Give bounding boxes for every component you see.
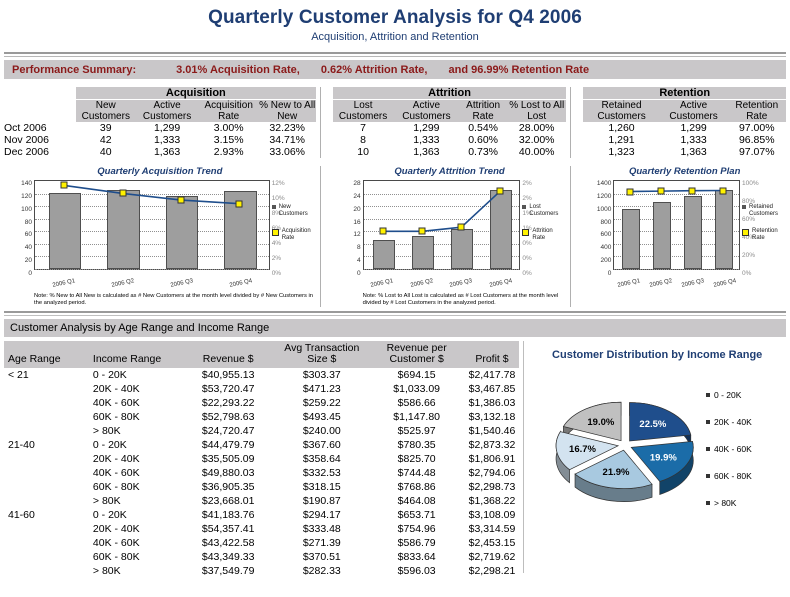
y-axis-tick-label: 0 xyxy=(4,270,32,277)
gridline xyxy=(364,269,520,270)
y2-axis-tick-label: 2% xyxy=(522,180,548,187)
x-axis-tick-label: 2006 Q2 xyxy=(649,278,673,289)
y-axis-tick-label: 140 xyxy=(4,180,32,187)
attrition-table-block: Attrition Lost Customers Active Customer… xyxy=(333,87,567,158)
retention-plan-chart: Quarterly Retention Plan 020040060080010… xyxy=(583,166,786,307)
cell-value xyxy=(4,410,89,424)
col-retention-rate: Retention Rate xyxy=(728,100,786,123)
y2-axis-tick-label: 100% xyxy=(742,180,768,187)
cell-value: 1,333 xyxy=(660,134,728,146)
page-subtitle: Acquisition, Attrition and Retention xyxy=(0,29,790,43)
cell-value: $2,719.62 xyxy=(465,550,520,564)
y-axis-tick-label: 16 xyxy=(333,219,361,226)
cell-value: 0 - 20K xyxy=(89,508,182,522)
y-axis-tick-label: 600 xyxy=(583,231,611,238)
cell-value: 60K - 80K xyxy=(89,410,182,424)
row-label-month: Dec 2006 xyxy=(4,146,76,158)
legend-marker-icon xyxy=(706,474,710,478)
cell-value: $52,798.63 xyxy=(181,410,274,424)
chart-plot-area: 02004006008001000120014000%20%40%60%80%1… xyxy=(583,178,786,290)
cell-value xyxy=(4,452,89,466)
cell-value: $282.33 xyxy=(275,564,369,578)
y-axis-tick-label: 80 xyxy=(4,219,32,226)
cell-value: $49,880.03 xyxy=(181,466,274,480)
col-retained-customers: Retained Customers xyxy=(583,100,659,123)
cell-value: $694.15 xyxy=(369,368,465,382)
data-point-marker xyxy=(61,182,68,189)
x-axis-tick-label: 2006 Q3 xyxy=(449,278,473,289)
cell-value: 1,291 xyxy=(583,134,659,146)
cell-value: 0.60% xyxy=(459,134,507,146)
y-axis-tick-label: 12 xyxy=(333,231,361,238)
legend-item: Retained Customers xyxy=(742,204,786,218)
vertical-divider xyxy=(570,87,571,158)
col-active-customers: Active Customers xyxy=(394,100,460,123)
y-axis-tick-label: 1200 xyxy=(583,193,611,200)
legend-swatch-bar-icon xyxy=(742,205,746,209)
table-row: 1,291 1,333 96.85% xyxy=(583,134,786,146)
table-row: 20K - 40K$35,505.09$358.64$825.70$1,806.… xyxy=(4,452,519,466)
cell-value: $2,453.15 xyxy=(465,536,520,550)
cell-value: $43,349.33 xyxy=(181,550,274,564)
cell-value: $35,505.09 xyxy=(181,452,274,466)
cell-value: 40K - 60K xyxy=(89,396,182,410)
cell-value: $2,298.21 xyxy=(465,564,520,578)
chart-title: Quarterly Retention Plan xyxy=(583,166,786,177)
cell-value: 32.23% xyxy=(259,122,316,134)
y-axis-tick-label: 800 xyxy=(583,219,611,226)
acquisition-note: Note: % New to All New is calculated as … xyxy=(4,293,316,307)
x-axis-tick-label: 2006 Q4 xyxy=(489,278,513,289)
acquisition-table: Acquisition New Customers Active Custome… xyxy=(4,87,316,158)
legend-marker-icon xyxy=(706,393,710,397)
cell-value: 40K - 60K xyxy=(89,536,182,550)
cell-value: $825.70 xyxy=(369,452,465,466)
cell-value: > 80K xyxy=(89,424,182,438)
header-divider xyxy=(4,52,786,57)
legend-label: 0 - 20K xyxy=(714,390,741,400)
cell-value: $596.03 xyxy=(369,564,465,578)
table-row: > 80K$23,668.01$190.87$464.08$1,368.22 xyxy=(4,494,519,508)
cell-value: $190.87 xyxy=(275,494,369,508)
cell-value: 2.93% xyxy=(199,146,259,158)
cell-value: 1,333 xyxy=(394,134,460,146)
legend-label: Retained Customers xyxy=(749,204,786,218)
col-active-customers: Active Customers xyxy=(660,100,728,123)
retention-table: Retention Retained Customers Active Cust… xyxy=(583,87,786,158)
table-row: 60K - 80K$52,798.63$493.45$1,147.80$3,13… xyxy=(4,410,519,424)
cell-value: $333.48 xyxy=(275,522,369,536)
cell-value: $471.23 xyxy=(275,382,369,396)
cell-value: $259.22 xyxy=(275,396,369,410)
legend-item: New Customers xyxy=(272,204,316,218)
y-axis-tick-label: 20 xyxy=(4,257,32,264)
performance-summary-label: Performance Summary: xyxy=(4,64,136,76)
cell-value: $358.64 xyxy=(275,452,369,466)
cell-value: 1,363 xyxy=(136,146,199,158)
y2-axis-tick-label: 0% xyxy=(522,255,548,262)
col-acquisition-rate: Acquisition Rate xyxy=(199,100,259,123)
table-row: 40K - 60K$43,422.58$271.39$586.79$2,453.… xyxy=(4,536,519,550)
pie-slice-label: 16.7% xyxy=(569,444,596,455)
y2-axis-tick-label: 0% xyxy=(272,270,298,277)
page-title: Quarterly Customer Analysis for Q4 2006 xyxy=(0,0,790,29)
cell-value: 60K - 80K xyxy=(89,480,182,494)
cell-value: 1,299 xyxy=(136,122,199,134)
cell-value: $54,357.41 xyxy=(181,522,274,536)
data-point-marker xyxy=(720,187,727,194)
retention-group-header: Retention xyxy=(583,87,786,100)
cell-value: $43,422.58 xyxy=(181,536,274,550)
y2-axis-tick-label: 20% xyxy=(742,252,768,259)
cell-value: $318.15 xyxy=(275,480,369,494)
y-axis-tick-label: 1400 xyxy=(583,180,611,187)
table-row: 20K - 40K$53,720.47$471.23$1,033.09$3,46… xyxy=(4,382,519,396)
performance-summary-values: 3.01% Acquisition Rate, 0.62% Attrition … xyxy=(136,64,607,76)
cell-value: $294.17 xyxy=(275,508,369,522)
chart-legend: Retained CustomersRetention Rate xyxy=(742,204,786,252)
cell-value: 7 xyxy=(333,122,394,134)
legend-swatch-bar-icon xyxy=(522,205,526,209)
cell-value: $3,314.59 xyxy=(465,522,520,536)
cell-value: $1,368.22 xyxy=(465,494,520,508)
y2-axis-tick-label: 2% xyxy=(272,255,298,262)
x-axis-tick-label: 2006 Q2 xyxy=(410,278,434,289)
legend-item: Acquisition Rate xyxy=(272,228,316,242)
table-row: Dec 2006 40 1,363 2.93% 33.06% xyxy=(4,146,316,158)
y-axis-tick-label: 4 xyxy=(333,257,361,264)
cell-value xyxy=(4,522,89,536)
cell-value: 21-40 xyxy=(4,438,89,452)
trend-charts-row: Quarterly Acquisition Trend 020406080100… xyxy=(4,166,786,307)
cell-value: $36,905.35 xyxy=(181,480,274,494)
summary-tables-row: Acquisition New Customers Active Custome… xyxy=(4,87,786,158)
y-axis-tick-label: 0 xyxy=(333,270,361,277)
vertical-divider xyxy=(320,87,321,158)
y2-axis-tick-label: 12% xyxy=(272,180,298,187)
cell-value: 20K - 40K xyxy=(89,452,182,466)
cell-value xyxy=(4,550,89,564)
legend-swatch-bar-icon xyxy=(272,205,276,209)
table-row: 40K - 60K$22,293.22$259.22$586.66$1,386.… xyxy=(4,396,519,410)
table-group-header-row: Attrition xyxy=(333,87,567,100)
data-point-marker xyxy=(658,188,665,195)
attrition-group-header: Attrition xyxy=(333,87,567,100)
pie-chart-graphic: 22.5%19.9%21.9%16.7%19.0% xyxy=(530,365,730,540)
x-axis-tick-label: 2006 Q1 xyxy=(370,278,394,289)
cell-value: 28.00% xyxy=(507,122,566,134)
legend-label: New Customers xyxy=(279,204,316,218)
pie-slice-label: 19.0% xyxy=(588,417,615,428)
cell-value: $744.48 xyxy=(369,466,465,480)
cell-value: 1,333 xyxy=(136,134,199,146)
col-profit: Profit $ xyxy=(465,341,520,368)
cell-value: 32.00% xyxy=(507,134,566,146)
legend-swatch-marker-icon xyxy=(272,229,279,236)
table-row: 1,323 1,363 97.07% xyxy=(583,146,786,158)
legend-marker-icon xyxy=(706,420,710,424)
cell-value: $768.86 xyxy=(369,480,465,494)
cell-value: 33.06% xyxy=(259,146,316,158)
data-point-marker xyxy=(380,228,387,235)
legend-item: > 80K xyxy=(706,489,784,516)
table-group-header-row: Acquisition xyxy=(4,87,316,100)
legend-item: Retention Rate xyxy=(742,228,786,242)
chart-plot-area: 0204060801001201400%2%4%6%8%10%12%2006 Q… xyxy=(4,178,316,290)
trend-line xyxy=(35,181,269,269)
row-label-month: Nov 2006 xyxy=(4,134,76,146)
legend-label: Lost Customers xyxy=(529,204,566,218)
cell-value: $2,298.73 xyxy=(465,480,520,494)
table-column-header-row: Retained Customers Active Customers Rete… xyxy=(583,100,786,123)
cell-value: $3,132.18 xyxy=(465,410,520,424)
legend-swatch-marker-icon xyxy=(522,229,529,236)
cell-value: $586.66 xyxy=(369,396,465,410)
legend-label: 60K - 80K xyxy=(714,471,752,481)
col-lost-customers: Lost Customers xyxy=(333,100,394,123)
plot-frame xyxy=(613,180,740,270)
data-point-marker xyxy=(626,188,633,195)
table-group-header-row: Retention xyxy=(583,87,786,100)
cell-value: 1,363 xyxy=(394,146,460,158)
cell-value: $41,183.76 xyxy=(181,508,274,522)
cell-value: 42 xyxy=(76,134,136,146)
performance-acquisition-rate: 3.01% Acquisition Rate, xyxy=(176,64,300,76)
retention-table-block: Retention Retained Customers Active Cust… xyxy=(583,87,786,158)
cell-value: $586.79 xyxy=(369,536,465,550)
legend-item: Attrition Rate xyxy=(522,228,566,242)
vertical-divider xyxy=(320,166,321,307)
cell-value: $653.71 xyxy=(369,508,465,522)
pie-slice-label: 21.9% xyxy=(603,467,630,478)
cell-value xyxy=(4,564,89,578)
cell-value: 0 - 20K xyxy=(89,368,182,382)
y-axis-tick-label: 60 xyxy=(4,231,32,238)
bottom-content: Age Range Income Range Revenue $ Avg Tra… xyxy=(0,341,790,578)
y-axis-tick-label: 400 xyxy=(583,244,611,251)
cell-value: 39 xyxy=(76,122,136,134)
cell-value xyxy=(4,396,89,410)
data-point-marker xyxy=(689,187,696,194)
y2-axis-tick-label: 10% xyxy=(272,195,298,202)
dashboard-page: Quarterly Customer Analysis for Q4 2006 … xyxy=(0,0,790,597)
legend-label: Acquisition Rate xyxy=(282,228,316,242)
table-row: > 80K$37,549.79$282.33$596.03$2,298.21 xyxy=(4,564,519,578)
cell-value: $367.60 xyxy=(275,438,369,452)
cell-value: $780.35 xyxy=(369,438,465,452)
x-axis-tick-label: 2006 Q4 xyxy=(229,278,253,289)
col-income-range: Income Range xyxy=(89,341,182,368)
cell-value xyxy=(4,494,89,508)
cell-value: $37,549.79 xyxy=(181,564,274,578)
data-point-marker xyxy=(496,188,503,195)
table-column-header-row: Lost Customers Active Customers Attritio… xyxy=(333,100,567,123)
cell-value: $271.39 xyxy=(275,536,369,550)
table-row: 60K - 80K$36,905.35$318.15$768.86$2,298.… xyxy=(4,480,519,494)
cell-value: $525.97 xyxy=(369,424,465,438)
acquisition-trend-chart: Quarterly Acquisition Trend 020406080100… xyxy=(4,166,316,307)
plot-frame xyxy=(34,180,270,270)
cell-value xyxy=(4,480,89,494)
cell-value: 1,323 xyxy=(583,146,659,158)
cell-value xyxy=(4,536,89,550)
pie-slice-label: 22.5% xyxy=(640,419,667,430)
data-point-marker xyxy=(458,224,465,231)
cell-value: 20K - 40K xyxy=(89,382,182,396)
table-row: 20K - 40K$54,357.41$333.48$754.96$3,314.… xyxy=(4,522,519,536)
cell-value: 3.15% xyxy=(199,134,259,146)
y-axis-tick-label: 24 xyxy=(333,193,361,200)
performance-summary-band: Performance Summary: 3.01% Acquisition R… xyxy=(4,60,786,80)
cell-value: $493.45 xyxy=(275,410,369,424)
col-pct-lost-to-all-lost: % Lost to All Lost xyxy=(507,100,566,123)
cell-value: $332.53 xyxy=(275,466,369,480)
performance-retention-rate: and 96.99% Retention Rate xyxy=(448,64,589,76)
data-point-marker xyxy=(119,190,126,197)
cell-value: > 80K xyxy=(89,494,182,508)
x-axis-tick-label: 2006 Q1 xyxy=(52,278,76,289)
pie-chart-svg: 22.5%19.9%21.9%16.7%19.0% xyxy=(530,365,730,540)
attrition-table: Attrition Lost Customers Active Customer… xyxy=(333,87,567,158)
col-pct-new-to-all-new: % New to All New xyxy=(259,100,316,123)
table-row: < 210 - 20K$40,955.13$303.37$694.15$2,41… xyxy=(4,368,519,382)
cell-value: $3,467.85 xyxy=(465,382,520,396)
cell-value: $1,147.80 xyxy=(369,410,465,424)
y-axis-tick-label: 20 xyxy=(333,206,361,213)
col-active-customers: Active Customers xyxy=(136,100,199,123)
attrition-note: Note: % Lost to All Lost is calculated a… xyxy=(333,293,567,307)
chart-title: Quarterly Acquisition Trend xyxy=(4,166,316,177)
cell-value: $303.37 xyxy=(275,368,369,382)
cell-value: $44,479.79 xyxy=(181,438,274,452)
cell-value: 41-60 xyxy=(4,508,89,522)
cell-value: $2,873.32 xyxy=(465,438,520,452)
cell-value: 1,363 xyxy=(660,146,728,158)
y-axis-tick-label: 28 xyxy=(333,180,361,187)
cell-value: $754.96 xyxy=(369,522,465,536)
customer-analysis-title: Customer Analysis by Age Range and Incom… xyxy=(4,322,269,334)
cell-value xyxy=(4,466,89,480)
cell-value: $53,720.47 xyxy=(181,382,274,396)
legend-label: 40K - 60K xyxy=(714,444,752,454)
cell-value: $1,386.03 xyxy=(465,396,520,410)
x-axis-tick-label: 2006 Q2 xyxy=(111,278,135,289)
x-axis-tick-label: 2006 Q3 xyxy=(170,278,194,289)
col-age-range: Age Range xyxy=(4,341,89,368)
attrition-trend-chart: Quarterly Attrition Trend 04812162024280… xyxy=(333,166,567,307)
cell-value: $2,794.06 xyxy=(465,466,520,480)
cell-value: $22,293.22 xyxy=(181,396,274,410)
cell-value: 10 xyxy=(333,146,394,158)
cell-value: $370.51 xyxy=(275,550,369,564)
table-row: 21-400 - 20K$44,479.79$367.60$780.35$2,8… xyxy=(4,438,519,452)
y-axis-tick-label: 1000 xyxy=(583,206,611,213)
legend-item: 20K - 40K xyxy=(706,408,784,435)
legend-item: Lost Customers xyxy=(522,204,566,218)
legend-label: Attrition Rate xyxy=(532,228,566,242)
customer-analysis-body: < 210 - 20K$40,955.13$303.37$694.15$2,41… xyxy=(4,368,519,578)
col-revenue-per-customer: Revenue per Customer $ xyxy=(369,341,465,368)
chart-legend: Lost CustomersAttrition Rate xyxy=(522,204,566,252)
pie-chart-title: Customer Distribution by Income Range xyxy=(524,341,790,361)
plot-frame xyxy=(363,180,521,270)
legend-label: > 80K xyxy=(714,498,736,508)
table-row: > 80K$24,720.47$240.00$525.97$1,540.46 xyxy=(4,424,519,438)
cell-value: 0.73% xyxy=(459,146,507,158)
chart-legend: New CustomersAcquisition Rate xyxy=(272,204,316,252)
cell-value xyxy=(4,424,89,438)
y2-axis-tick-label: 0% xyxy=(742,270,768,277)
cell-value: $24,720.47 xyxy=(181,424,274,438)
acquisition-group-header: Acquisition xyxy=(76,87,316,100)
cell-value: 20K - 40K xyxy=(89,522,182,536)
y-axis-tick-label: 100 xyxy=(4,206,32,213)
cell-value: $1,806.91 xyxy=(465,452,520,466)
section-divider xyxy=(4,311,786,316)
col-attrition-rate: Attrition Rate xyxy=(459,100,507,123)
gridline xyxy=(614,269,739,270)
cell-value: $833.64 xyxy=(369,550,465,564)
pie-chart-legend: 0 - 20K20K - 40K40K - 60K60K - 80K> 80K xyxy=(706,381,784,516)
cell-value: 96.85% xyxy=(728,134,786,146)
table-row: 40K - 60K$49,880.03$332.53$744.48$2,794.… xyxy=(4,466,519,480)
legend-item: 40K - 60K xyxy=(706,435,784,462)
customer-analysis-table-wrap: Age Range Income Range Revenue $ Avg Tra… xyxy=(4,341,519,578)
pie-slice-label: 19.9% xyxy=(650,452,677,463)
table-row: 7 1,299 0.54% 28.00% xyxy=(333,122,567,134)
chart-plot-area: 04812162024280%0%0%1%1%2%2%2006 Q12006 Q… xyxy=(333,178,567,290)
col-avg-transaction-size: Avg Transaction Size $ xyxy=(275,341,369,368)
cell-value: $23,668.01 xyxy=(181,494,274,508)
legend-marker-icon xyxy=(706,501,710,505)
x-axis-tick-label: 2006 Q1 xyxy=(617,278,641,289)
cell-value: 8 xyxy=(333,134,394,146)
cell-value: 1,299 xyxy=(660,122,728,134)
col-revenue: Revenue $ xyxy=(181,341,274,368)
cell-value: $240.00 xyxy=(275,424,369,438)
cell-value: > 80K xyxy=(89,564,182,578)
cell-value: 97.00% xyxy=(728,122,786,134)
y-axis-tick-label: 200 xyxy=(583,257,611,264)
legend-item: 0 - 20K xyxy=(706,381,784,408)
cell-value: 40K - 60K xyxy=(89,466,182,480)
cell-value: $40,955.13 xyxy=(181,368,274,382)
pie-chart-pane: Customer Distribution by Income Range 22… xyxy=(523,341,790,573)
cell-value: 40 xyxy=(76,146,136,158)
table-row: 10 1,363 0.73% 40.00% xyxy=(333,146,567,158)
table-row: 41-600 - 20K$41,183.76$294.17$653.71$3,1… xyxy=(4,508,519,522)
cell-value: 1,260 xyxy=(583,122,659,134)
cell-value: $464.08 xyxy=(369,494,465,508)
cell-value: 40.00% xyxy=(507,146,566,158)
cell-value: $3,108.09 xyxy=(465,508,520,522)
customer-analysis-band: Customer Analysis by Age Range and Incom… xyxy=(4,319,786,337)
cell-value: 34.71% xyxy=(259,134,316,146)
y-axis-tick-label: 0 xyxy=(583,270,611,277)
table-row: Oct 2006 39 1,299 3.00% 32.23% xyxy=(4,122,316,134)
table-row: 60K - 80K$43,349.33$370.51$833.64$2,719.… xyxy=(4,550,519,564)
cell-value: 60K - 80K xyxy=(89,550,182,564)
row-label-month: Oct 2006 xyxy=(4,122,76,134)
col-new-customers: New Customers xyxy=(76,100,136,123)
acquisition-table-block: Acquisition New Customers Active Custome… xyxy=(4,87,316,158)
cell-value xyxy=(4,382,89,396)
legend-marker-icon xyxy=(706,447,710,451)
table-row: Nov 2006 42 1,333 3.15% 34.71% xyxy=(4,134,316,146)
cell-value: 3.00% xyxy=(199,122,259,134)
data-point-marker xyxy=(236,200,243,207)
table-row: 1,260 1,299 97.00% xyxy=(583,122,786,134)
